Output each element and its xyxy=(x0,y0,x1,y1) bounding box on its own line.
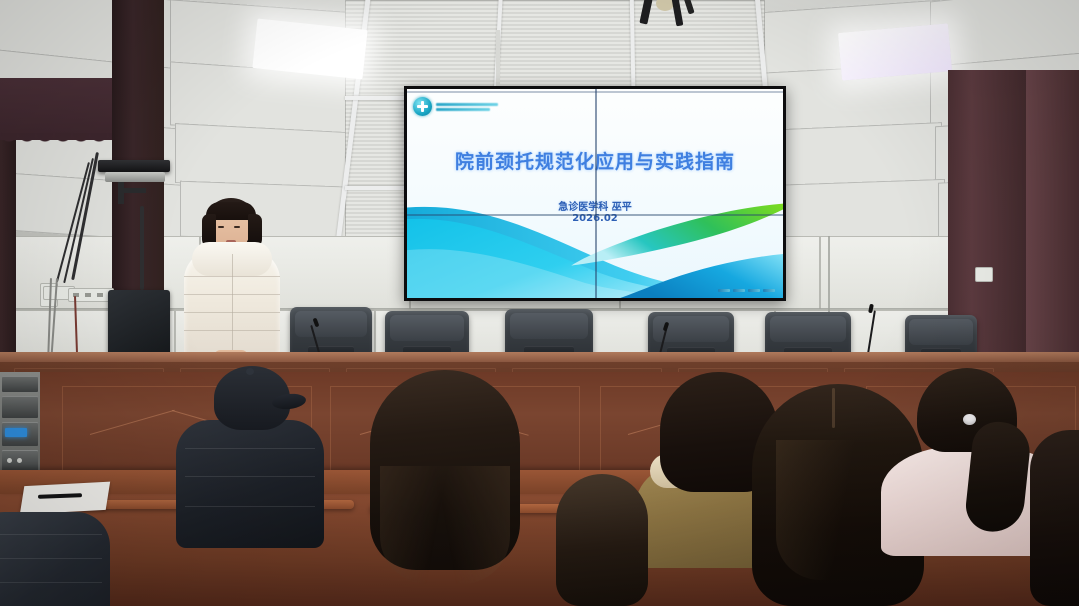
wall-outlet-right[interactable] xyxy=(975,267,993,282)
podium-monitor xyxy=(108,290,170,356)
right-edge-hair xyxy=(1030,430,1079,606)
back-small-hair xyxy=(556,474,648,606)
videowall-seam-horizontal xyxy=(407,214,783,216)
wall-equipment-arm xyxy=(118,182,124,204)
hospital-name-wordmark xyxy=(436,103,498,111)
handout-paper[interactable] xyxy=(20,482,110,515)
conference-room-photo: 院前颈托规范化应用与实践指南 急诊医学科 巫平 2026.02 xyxy=(0,0,1079,606)
baseball-cap xyxy=(214,366,290,430)
videowall-seam-vertical xyxy=(595,89,597,298)
presenter-at-podium xyxy=(178,198,286,363)
hair-sheen xyxy=(776,440,896,580)
cap-button xyxy=(246,368,254,375)
window-curtain xyxy=(0,78,118,140)
hair-scrunchie xyxy=(963,414,976,425)
video-wall-display[interactable]: 院前颈托规范化应用与实践指南 急诊医学科 巫平 2026.02 xyxy=(404,86,786,301)
wall-equipment-clamp xyxy=(124,188,146,193)
cable-down-column xyxy=(140,206,144,290)
ceiling-light-panel-right xyxy=(838,23,952,80)
ceiling-mount-fixture xyxy=(630,0,700,30)
cap-person-jacket xyxy=(176,420,324,548)
hair-part xyxy=(832,388,835,428)
wall-equipment-unit xyxy=(105,172,165,182)
videowall-seam-horizontal-2 xyxy=(407,91,783,93)
wall-equipment-shelf xyxy=(98,160,170,172)
slide-footer-mark xyxy=(718,289,775,292)
hair-strands xyxy=(380,466,510,584)
slide-hospital-logo xyxy=(413,97,498,116)
hospital-cross-icon xyxy=(413,97,432,116)
presenter-zipper xyxy=(232,254,233,358)
edge-left-jacket xyxy=(0,512,110,606)
presentation-slide: 院前颈托规范化应用与实践指南 急诊医学科 巫平 2026.02 xyxy=(407,89,783,298)
